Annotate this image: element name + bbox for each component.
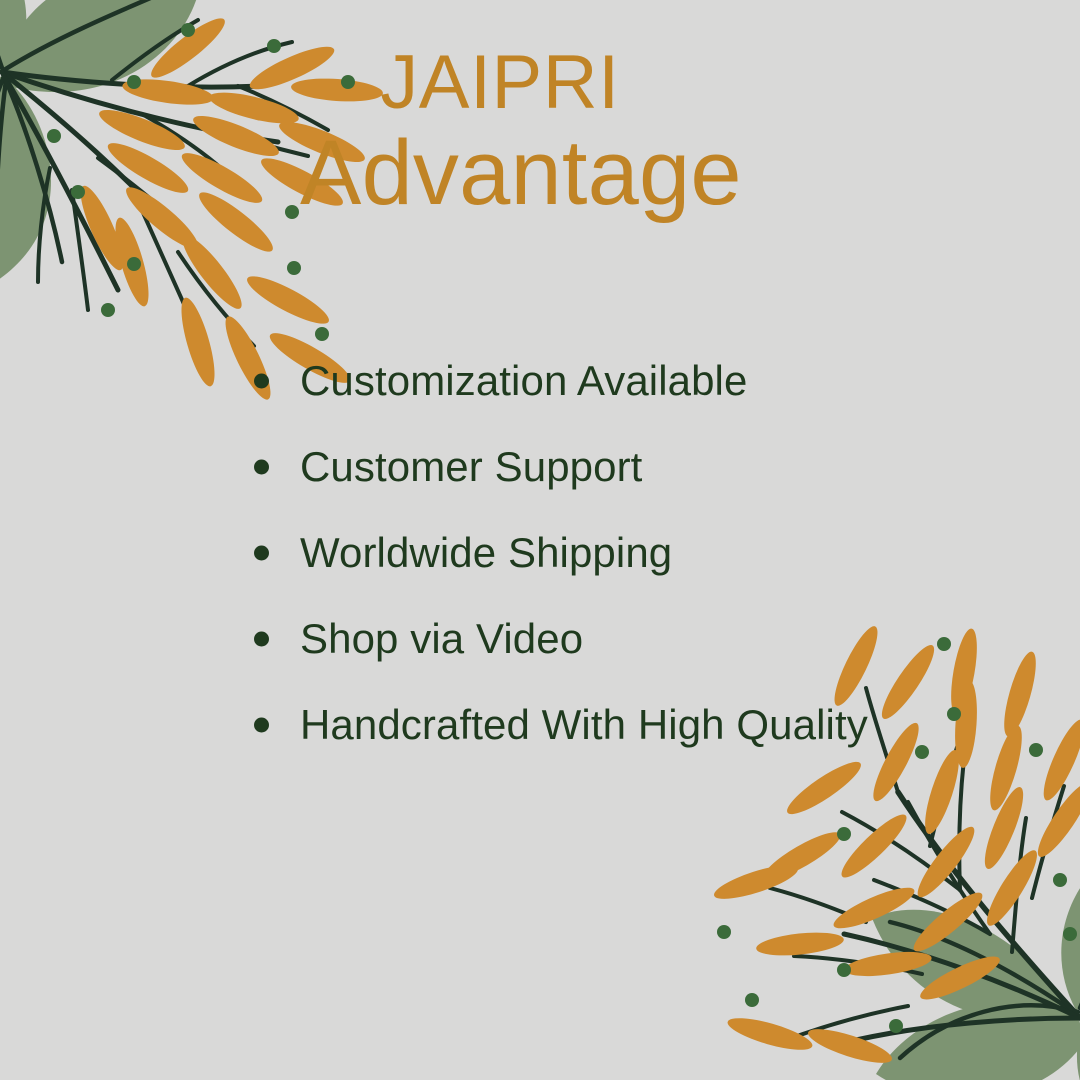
page-title: JAIPRI Advantage <box>300 44 700 225</box>
list-item-label: Shop via Video <box>300 618 583 660</box>
bullet-dot-icon <box>254 374 269 389</box>
leaf-cluster <box>0 0 202 280</box>
bullet-dot-icon <box>254 546 269 561</box>
title-brand: JAIPRI <box>300 44 700 122</box>
list-item-label: Customer Support <box>300 446 642 488</box>
bullet-dot-icon <box>254 632 269 647</box>
advantage-list: Customization Available Customer Support… <box>248 338 1008 768</box>
list-item: Worldwide Shipping <box>248 510 1008 596</box>
list-item-label: Worldwide Shipping <box>300 532 672 574</box>
list-item-label: Handcrafted With High Quality <box>300 704 868 746</box>
list-item-label: Customization Available <box>300 360 747 402</box>
advantage-poster: JAIPRI Advantage Customization Available… <box>0 0 1080 1080</box>
leaf-cluster <box>872 836 1080 1080</box>
list-item: Handcrafted With High Quality <box>248 682 1008 768</box>
list-item: Customer Support <box>248 424 1008 510</box>
bullet-dot-icon <box>254 460 269 475</box>
bullet-dot-icon <box>254 718 269 733</box>
list-item: Customization Available <box>248 338 1008 424</box>
list-item: Shop via Video <box>248 596 1008 682</box>
title-subject: Advantage <box>300 122 700 225</box>
